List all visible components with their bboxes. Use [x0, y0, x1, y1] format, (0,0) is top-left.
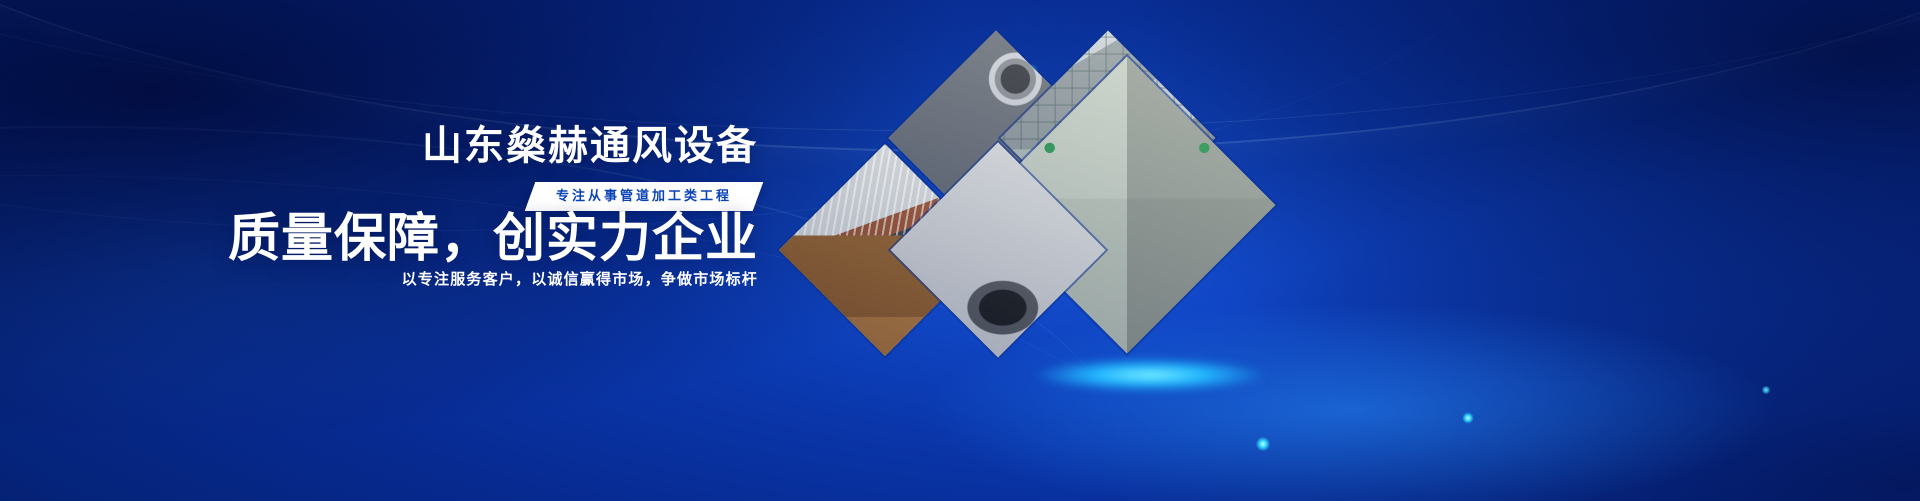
specialty-ribbon: 专注从事管道加工类工程 — [525, 182, 764, 211]
hero-headline: 质量保障，创实力企业 — [228, 210, 758, 270]
brand-title: 山东燊赫通风设备 — [422, 126, 758, 166]
glow-dot-icon — [1760, 384, 1772, 396]
diamond-photo-collage — [800, 0, 1360, 440]
glow-dot-icon — [1460, 410, 1476, 426]
specialty-ribbon-label: 专注从事管道加工类工程 — [556, 188, 732, 205]
hero-tagline: 以专注服务客户，以诚信赢得市场，争做市场标杆 — [402, 272, 758, 287]
hero-banner: 山东燊赫通风设备 专注从事管道加工类工程 质量保障，创实力企业 以专注服务客户，… — [0, 0, 1920, 501]
hero-copy-block: 山东燊赫通风设备 专注从事管道加工类工程 质量保障，创实力企业 以专注服务客户，… — [0, 0, 790, 501]
